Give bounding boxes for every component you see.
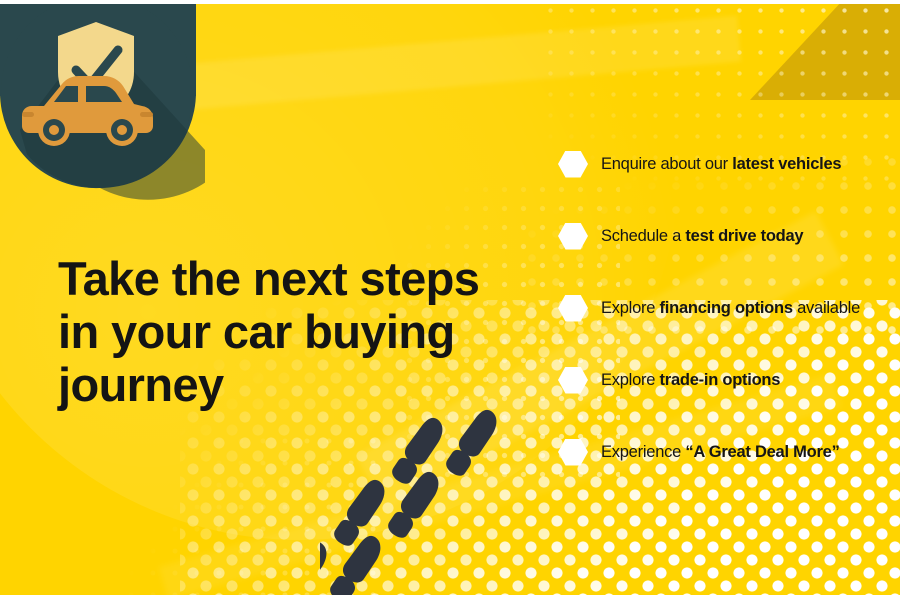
footprint <box>326 532 387 600</box>
headline-line-2: in your car buying <box>58 305 528 358</box>
bottom-edge-strip <box>0 595 900 600</box>
checklist-text-regular-before: Enquire about our <box>601 155 732 173</box>
checklist-text-regular-before: Experience <box>601 443 685 461</box>
checklist-text-regular-before: Schedule a <box>601 227 685 245</box>
top-edge-strip <box>0 0 900 4</box>
footprint <box>388 414 449 488</box>
headline-line-3: journey <box>58 358 528 411</box>
checklist: Enquire about our latest vehicles Schedu… <box>558 128 900 488</box>
checklist-text-regular-before: Explore <box>601 371 660 389</box>
footprint <box>442 406 503 480</box>
hexagon-bullet-icon <box>558 367 588 394</box>
checklist-item-label: Experience “A Great Deal More” <box>601 442 840 462</box>
checklist-item-label: Enquire about our latest vehicles <box>601 154 841 174</box>
promo-banner: Take the next steps in your car buying j… <box>0 0 900 600</box>
hexagon-bullet-icon <box>558 151 588 178</box>
checklist-text-bold: latest vehicles <box>732 155 841 173</box>
checklist-item-great-deal-more[interactable]: Experience “A Great Deal More” <box>558 416 900 488</box>
footprints-trail <box>320 405 570 600</box>
checklist-text-bold: test drive today <box>685 227 803 245</box>
checklist-item-financing-options[interactable]: Explore financing options available <box>558 272 900 344</box>
headline-line-1: Take the next steps <box>58 252 528 305</box>
hexagon-bullet-icon <box>558 439 588 466</box>
corner-wedge-shape <box>750 0 900 100</box>
hexagon-bullet-icon <box>558 295 588 322</box>
checklist-item-test-drive[interactable]: Schedule a test drive today <box>558 200 900 272</box>
footprint <box>330 476 391 550</box>
checklist-text-bold: trade-in options <box>660 371 781 389</box>
checklist-text-regular-after: available <box>793 299 860 317</box>
checklist-item-latest-vehicles[interactable]: Enquire about our latest vehicles <box>558 128 900 200</box>
car-with-shield-badge <box>0 0 230 200</box>
checklist-item-label: Explore financing options available <box>601 298 860 318</box>
footprint <box>384 468 445 542</box>
checklist-text-bold: financing options <box>660 299 793 317</box>
checklist-text-bold: “A Great Deal More” <box>685 443 839 461</box>
checklist-item-label: Schedule a test drive today <box>601 226 803 246</box>
checklist-item-label: Explore trade-in options <box>601 370 780 390</box>
checklist-item-trade-in-options[interactable]: Explore trade-in options <box>558 344 900 416</box>
hexagon-bullet-icon <box>558 223 588 250</box>
checklist-text-regular-before: Explore <box>601 299 660 317</box>
headline: Take the next steps in your car buying j… <box>58 252 528 411</box>
